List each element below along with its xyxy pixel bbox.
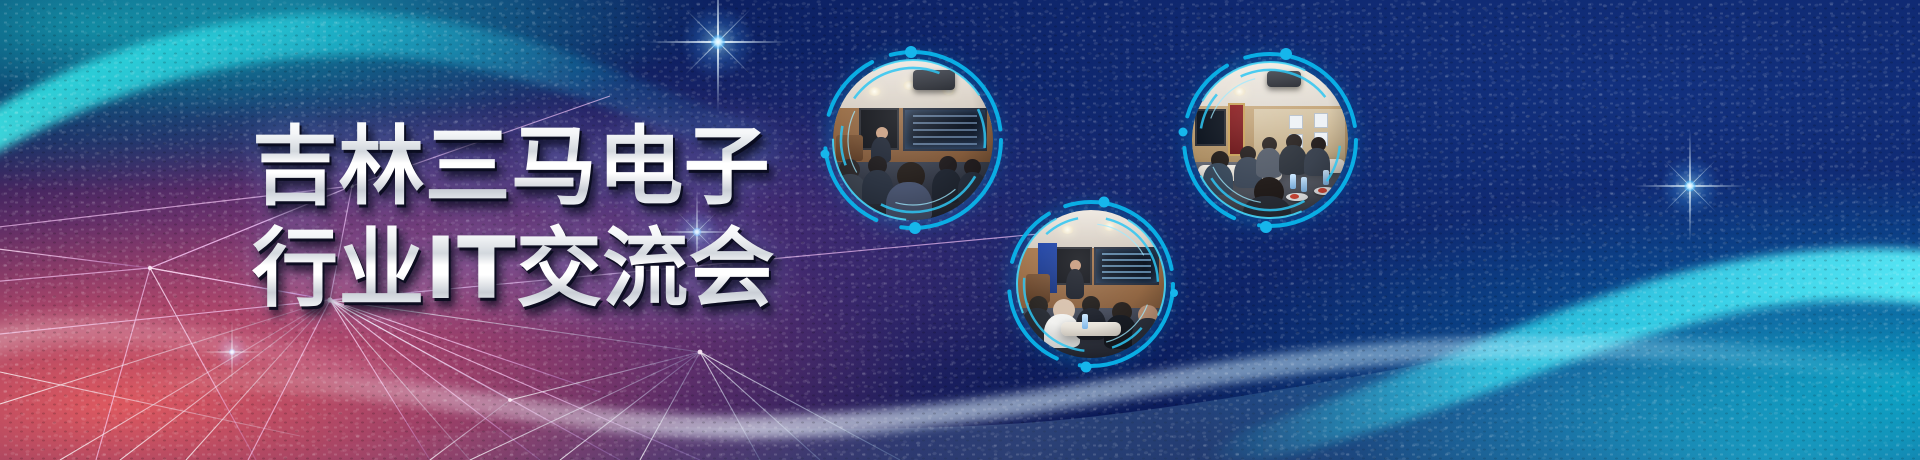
banner-root: 吉林三马电子 行业IT交流会 xyxy=(0,0,1920,460)
medallion-right-tech-ring xyxy=(1174,44,1366,236)
photo-medallion-seminar-left[interactable] xyxy=(815,42,1011,238)
medallion-center-tech-ring xyxy=(1000,193,1182,375)
banner-title-line-2: 行业IT交流会 xyxy=(252,220,775,318)
banner-title-line-1: 吉林三马电子 xyxy=(252,118,775,216)
banner-title: 吉林三马电子 行业IT交流会 xyxy=(252,118,775,318)
photo-medallion-seminar-right[interactable] xyxy=(1174,44,1366,236)
photo-medallion-seminar-center[interactable] xyxy=(1000,193,1182,375)
medallion-left-tech-ring xyxy=(815,42,1011,238)
